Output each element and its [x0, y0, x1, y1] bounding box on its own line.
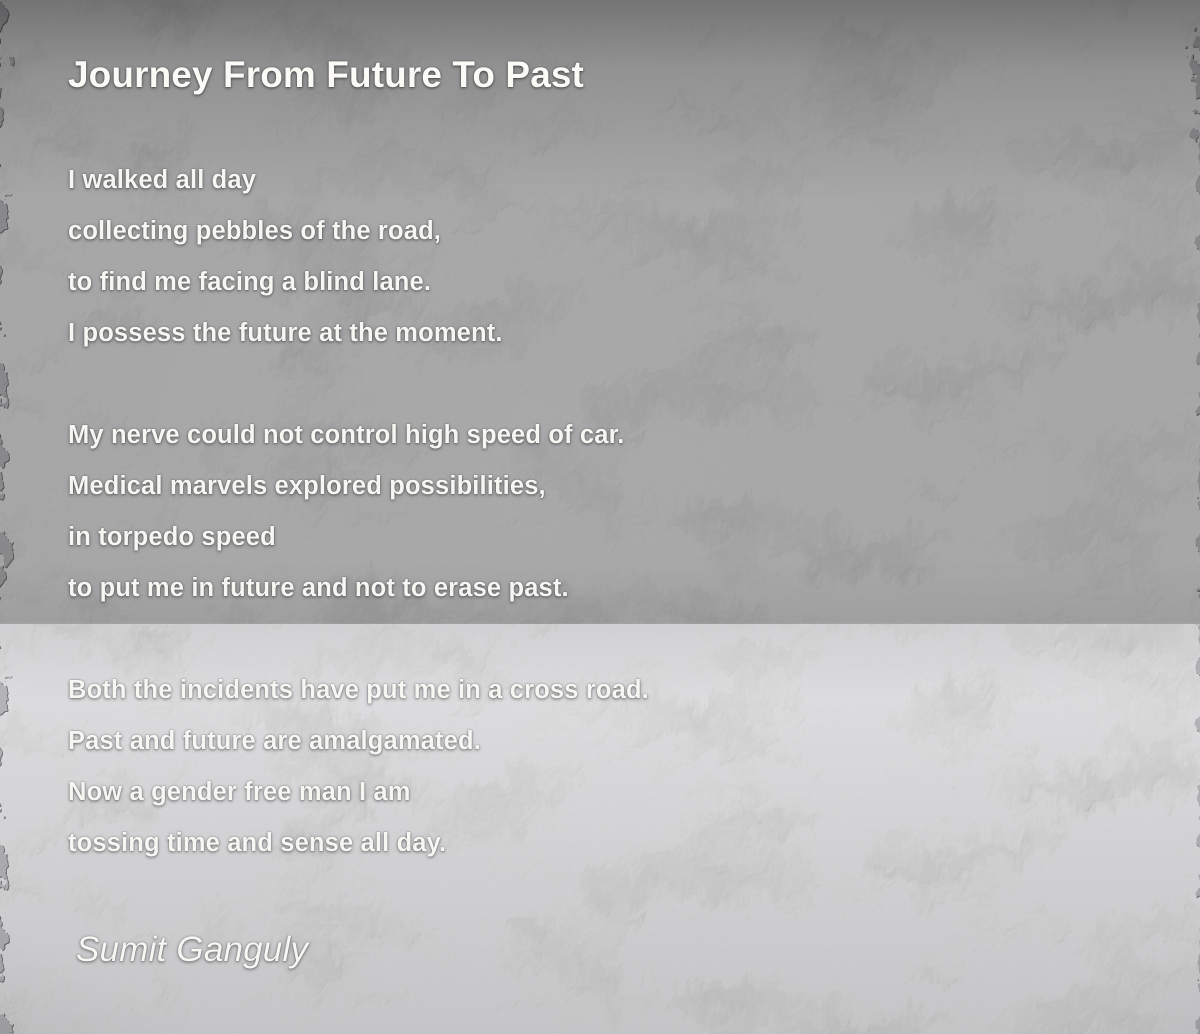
poem-line: My nerve could not control high speed of… — [68, 410, 1128, 461]
poem-body: I walked all daycollecting pebbles of th… — [68, 155, 1128, 869]
poem-line: Both the incidents have put me in a cros… — [68, 665, 1128, 716]
poem-line: tossing time and sense all day. — [68, 818, 1128, 869]
poem-line: I walked all day — [68, 155, 1128, 206]
poem-stanza-break — [68, 359, 1128, 410]
poem-line: Now a gender free man I am — [68, 767, 1128, 818]
poem-line: to put me in future and not to erase pas… — [68, 563, 1128, 614]
poem-line: Past and future are amalgamated. — [68, 716, 1128, 767]
poem-line: to find me facing a blind lane. — [68, 257, 1128, 308]
author-signature: Sumit Ganguly — [76, 930, 308, 970]
poem-line: collecting pebbles of the road, — [68, 206, 1128, 257]
page-title: Journey From Future To Past — [68, 54, 584, 96]
poem-card: Journey From Future To Past I walked all… — [0, 0, 1200, 1034]
poem-stanza-break — [68, 614, 1128, 665]
poem-line: Medical marvels explored possibilities, — [68, 461, 1128, 512]
poem-line: in torpedo speed — [68, 512, 1128, 563]
poem-line: I possess the future at the moment. — [68, 308, 1128, 359]
